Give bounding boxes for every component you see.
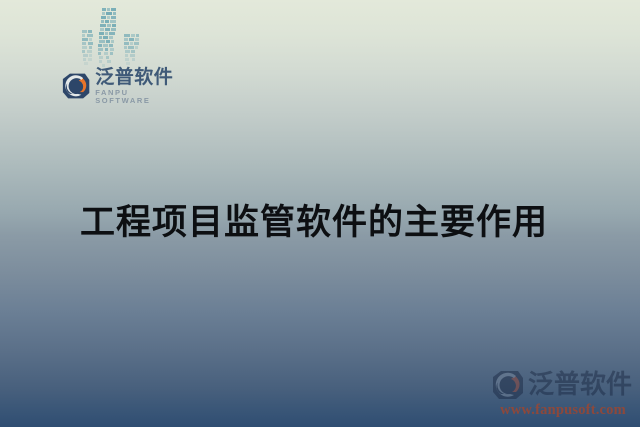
brand-block: 泛普软件 FANPU SOFTWARE [62, 0, 182, 112]
slide-canvas: 泛普软件 FANPU SOFTWARE 工程项目监管软件的主要作用 泛普软件 w… [0, 0, 640, 427]
watermark: 泛普软件 www.fanpusoft.com [492, 369, 634, 419]
watermark-url: www.fanpusoft.com [492, 402, 634, 419]
slide-title: 工程项目监管软件的主要作用 [80, 194, 548, 245]
fanpu-hexagon-logo-icon [62, 71, 90, 101]
watermark-logo-row: 泛普软件 [492, 369, 634, 401]
watermark-name-cn: 泛普软件 [528, 372, 632, 398]
logo-name-cn: 泛普软件 [95, 68, 182, 87]
fanpu-hexagon-watermark-icon [492, 369, 524, 401]
fanpu-logo-lockup: 泛普软件 FANPU SOFTWARE [62, 68, 182, 104]
pixel-skyline-icon [80, 4, 158, 68]
logo-name-en: FANPU SOFTWARE [95, 89, 182, 104]
